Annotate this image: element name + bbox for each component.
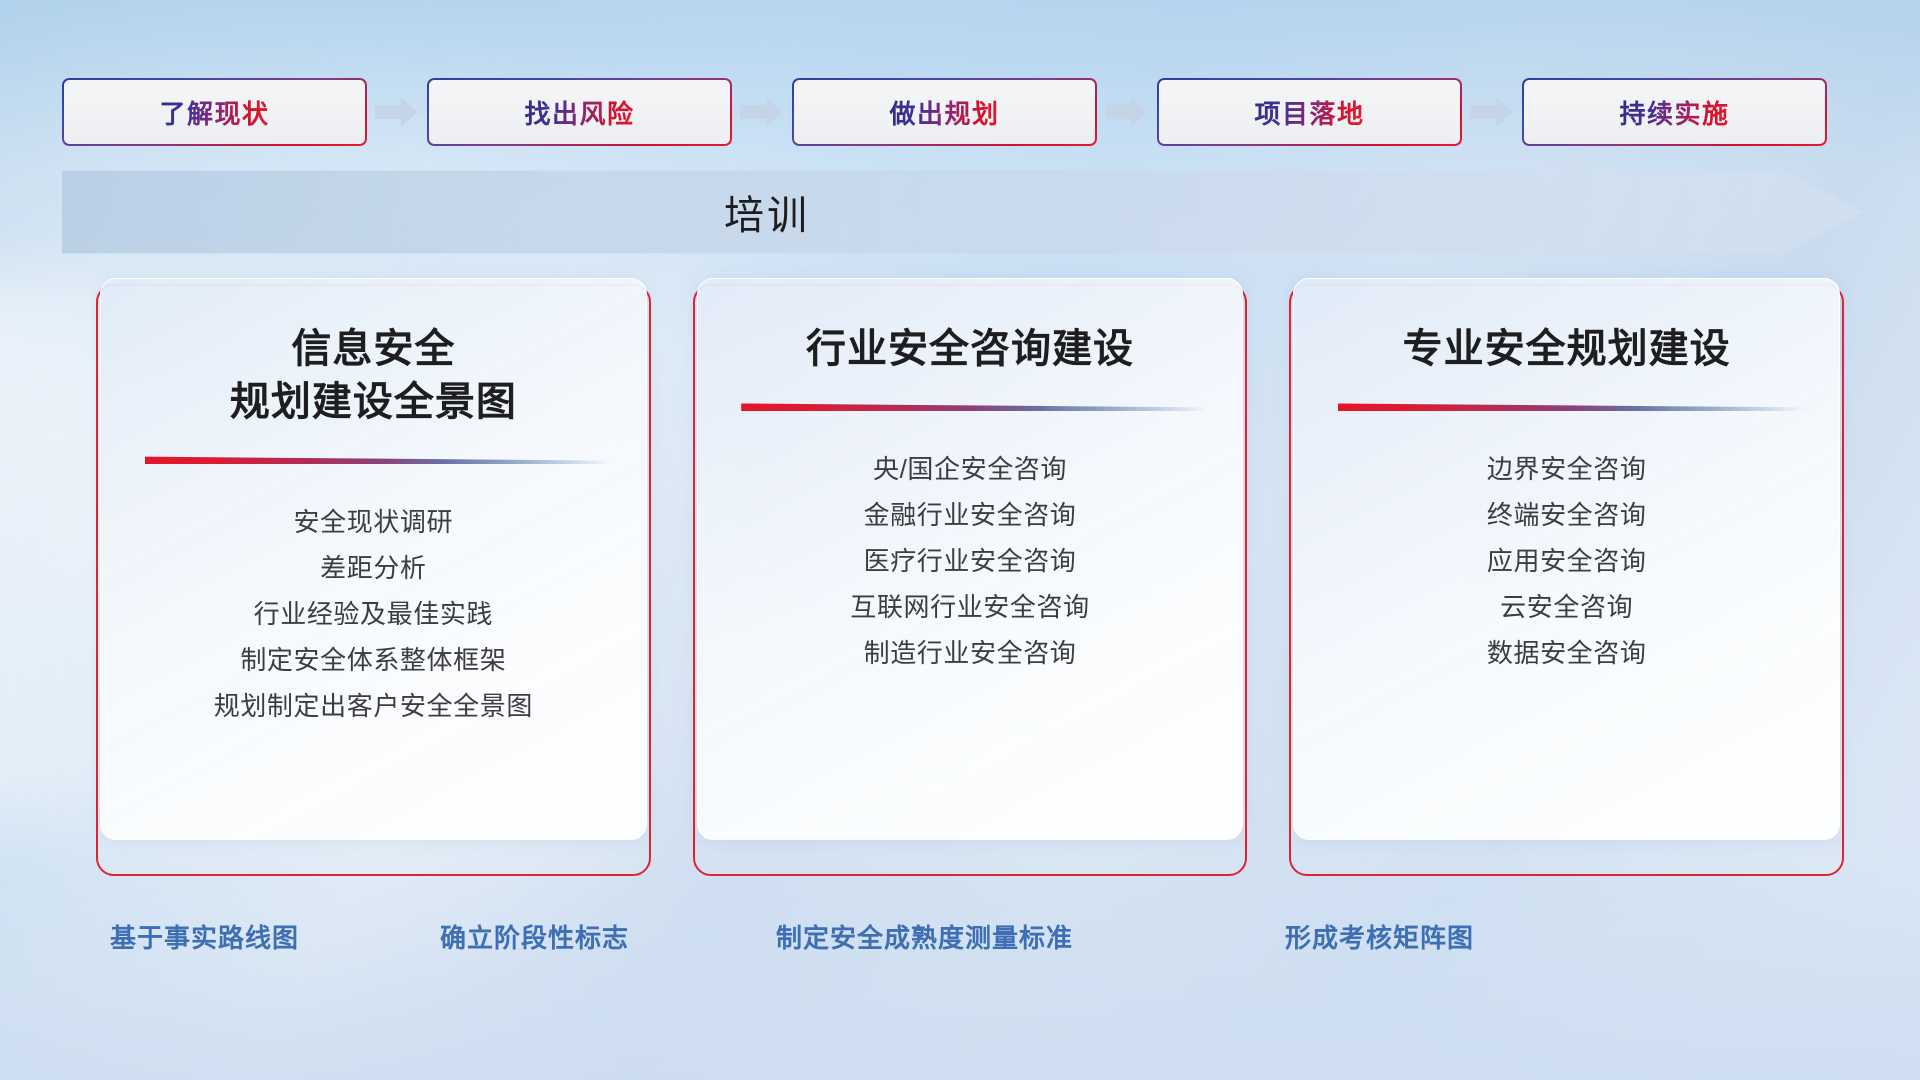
- card-title: 行业安全咨询建设: [806, 323, 1134, 376]
- list-item: 行业经验及最佳实践: [254, 591, 493, 637]
- list-item: 差距分析: [320, 545, 426, 591]
- list-item: 规划制定出客户安全全景图: [214, 683, 533, 729]
- training-band-label: 培训: [62, 166, 1472, 258]
- step-box-2[interactable]: 找出风险: [427, 78, 732, 146]
- list-item: 应用安全咨询: [1487, 538, 1647, 584]
- training-arrow-band: 培训: [62, 166, 1862, 258]
- card-item-list: 央/国企安全咨询 金融行业安全咨询 医疗行业安全咨询 互联网行业安全咨询 制造行…: [732, 446, 1209, 676]
- footer-label-roadmap: 基于事实路线图: [110, 918, 299, 955]
- card-3-wrapper: 专业安全规划建设 边界安全咨询 终端安全咨询 应用安全咨询 云安全咨询 数据安全…: [1293, 278, 1840, 878]
- card-1-wrapper: 信息安全 规划建设全景图 安全现状调研 差距分析 行业经验及最佳实践 制定安全体…: [100, 278, 647, 878]
- step-label: 项目落地: [1254, 94, 1364, 131]
- step-label: 做出规划: [889, 94, 999, 131]
- list-item: 边界安全咨询: [1487, 446, 1647, 492]
- step-box-5[interactable]: 持续实施: [1522, 78, 1827, 146]
- list-item: 数据安全咨询: [1487, 630, 1647, 676]
- list-item: 制定安全体系整体框架: [240, 637, 506, 683]
- card-title: 信息安全 规划建设全景图: [230, 323, 517, 429]
- footer-label-row: 基于事实路线图 确立阶段性标志 制定安全成熟度测量标准 形成考核矩阵图: [100, 918, 1840, 962]
- card-item-list: 边界安全咨询 终端安全咨询 应用安全咨询 云安全咨询 数据安全咨询: [1328, 446, 1805, 676]
- card-divider-rule: [732, 402, 1209, 412]
- arrow-right-icon: [367, 96, 427, 128]
- card-divider-rule: [1328, 402, 1805, 412]
- step-box-1[interactable]: 了解现状: [62, 78, 367, 146]
- step-label: 持续实施: [1619, 94, 1729, 131]
- list-item: 终端安全咨询: [1487, 492, 1647, 538]
- card-2-wrapper: 行业安全咨询建设 央/国企安全咨询 金融行业安全咨询 医疗行业安全咨询 互联网行…: [697, 278, 1244, 878]
- footer-label-maturity-scale: 制定安全成熟度测量标准: [776, 918, 1073, 955]
- card-title: 专业安全规划建设: [1403, 323, 1731, 376]
- card-divider-rule: [135, 455, 612, 465]
- list-item: 安全现状调研: [294, 499, 454, 545]
- card-information-security-blueprint[interactable]: 信息安全 规划建设全景图 安全现状调研 差距分析 行业经验及最佳实践 制定安全体…: [100, 278, 647, 840]
- arrow-right-icon: [1097, 96, 1157, 128]
- list-item: 制造行业安全咨询: [864, 630, 1077, 676]
- arrow-right-icon: [732, 96, 792, 128]
- list-item: 央/国企安全咨询: [873, 446, 1067, 492]
- process-step-row: 了解现状 找出风险 做出规划 项目落地 持续实施: [62, 78, 1862, 146]
- list-item: 互联网行业安全咨询: [850, 584, 1089, 630]
- card-professional-security-planning[interactable]: 专业安全规划建设 边界安全咨询 终端安全咨询 应用安全咨询 云安全咨询 数据安全…: [1293, 278, 1840, 840]
- footer-label-kpi-matrix: 形成考核矩阵图: [1285, 918, 1474, 955]
- arrow-right-icon: [1462, 96, 1522, 128]
- card-industry-security-consulting[interactable]: 行业安全咨询建设 央/国企安全咨询 金融行业安全咨询 医疗行业安全咨询 互联网行…: [697, 278, 1244, 840]
- card-item-list: 安全现状调研 差距分析 行业经验及最佳实践 制定安全体系整体框架 规划制定出客户…: [135, 499, 612, 729]
- list-item: 医疗行业安全咨询: [864, 538, 1077, 584]
- footer-label-milestones: 确立阶段性标志: [440, 918, 629, 955]
- list-item: 云安全咨询: [1500, 584, 1633, 630]
- step-label: 找出风险: [524, 94, 634, 131]
- list-item: 金融行业安全咨询: [864, 492, 1077, 538]
- step-box-4[interactable]: 项目落地: [1157, 78, 1462, 146]
- step-box-3[interactable]: 做出规划: [792, 78, 1097, 146]
- capability-card-row: 信息安全 规划建设全景图 安全现状调研 差距分析 行业经验及最佳实践 制定安全体…: [100, 278, 1840, 878]
- step-label: 了解现状: [159, 94, 269, 131]
